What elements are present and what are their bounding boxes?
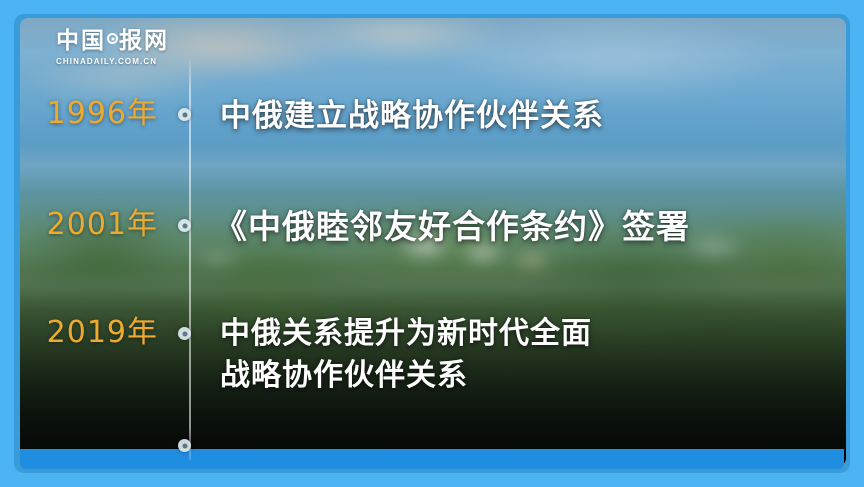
timeline-year-label: 2001年: [0, 205, 172, 245]
timeline-node-marker: [172, 313, 206, 353]
logo-chinese-wordmark: 中国报网: [56, 30, 186, 53]
chinadaily-logo: 中国报网 CHINADAILY.COM.CN: [56, 30, 186, 66]
logo-cn-left: 中国: [56, 28, 106, 54]
timeline-entry-1996: 1996年 中俄建立战略协作伙伴关系: [0, 94, 864, 138]
timeline-node-marker: [172, 94, 206, 134]
timeline-year-label: 2019年: [0, 313, 172, 353]
content-layer: 中国报网 CHINADAILY.COM.CN 1996年 中俄建立战略协作伙伴关…: [0, 0, 864, 487]
timeline-dot-icon: [178, 439, 191, 452]
logo-domain-text: CHINADAILY.COM.CN: [56, 57, 186, 66]
sun-disc-icon: [107, 33, 118, 44]
timeline-year-label: 1996年: [0, 94, 172, 134]
timeline-event-text: 中俄建立战略协作伙伴关系: [206, 94, 864, 138]
timeline-dot-icon: [178, 108, 191, 121]
timeline-node-marker: [172, 205, 206, 245]
timeline-entry-2001: 2001年 《中俄睦邻友好合作条约》签署: [0, 205, 864, 249]
infographic-frame: 中国报网 CHINADAILY.COM.CN 1996年 中俄建立战略协作伙伴关…: [0, 0, 864, 487]
timeline-dot-icon: [178, 219, 191, 232]
timeline-event-text: 《中俄睦邻友好合作条约》签署: [206, 205, 864, 249]
timeline-entry-terminal: [0, 425, 864, 465]
timeline-entry-2019: 2019年 中俄关系提升为新时代全面 战略协作伙伴关系: [0, 313, 864, 397]
timeline-dot-icon: [178, 327, 191, 340]
timeline-node-marker-terminal: [172, 425, 206, 465]
timeline-event-text: 中俄关系提升为新时代全面 战略协作伙伴关系: [206, 313, 864, 397]
logo-cn-right: 报网: [119, 28, 169, 54]
